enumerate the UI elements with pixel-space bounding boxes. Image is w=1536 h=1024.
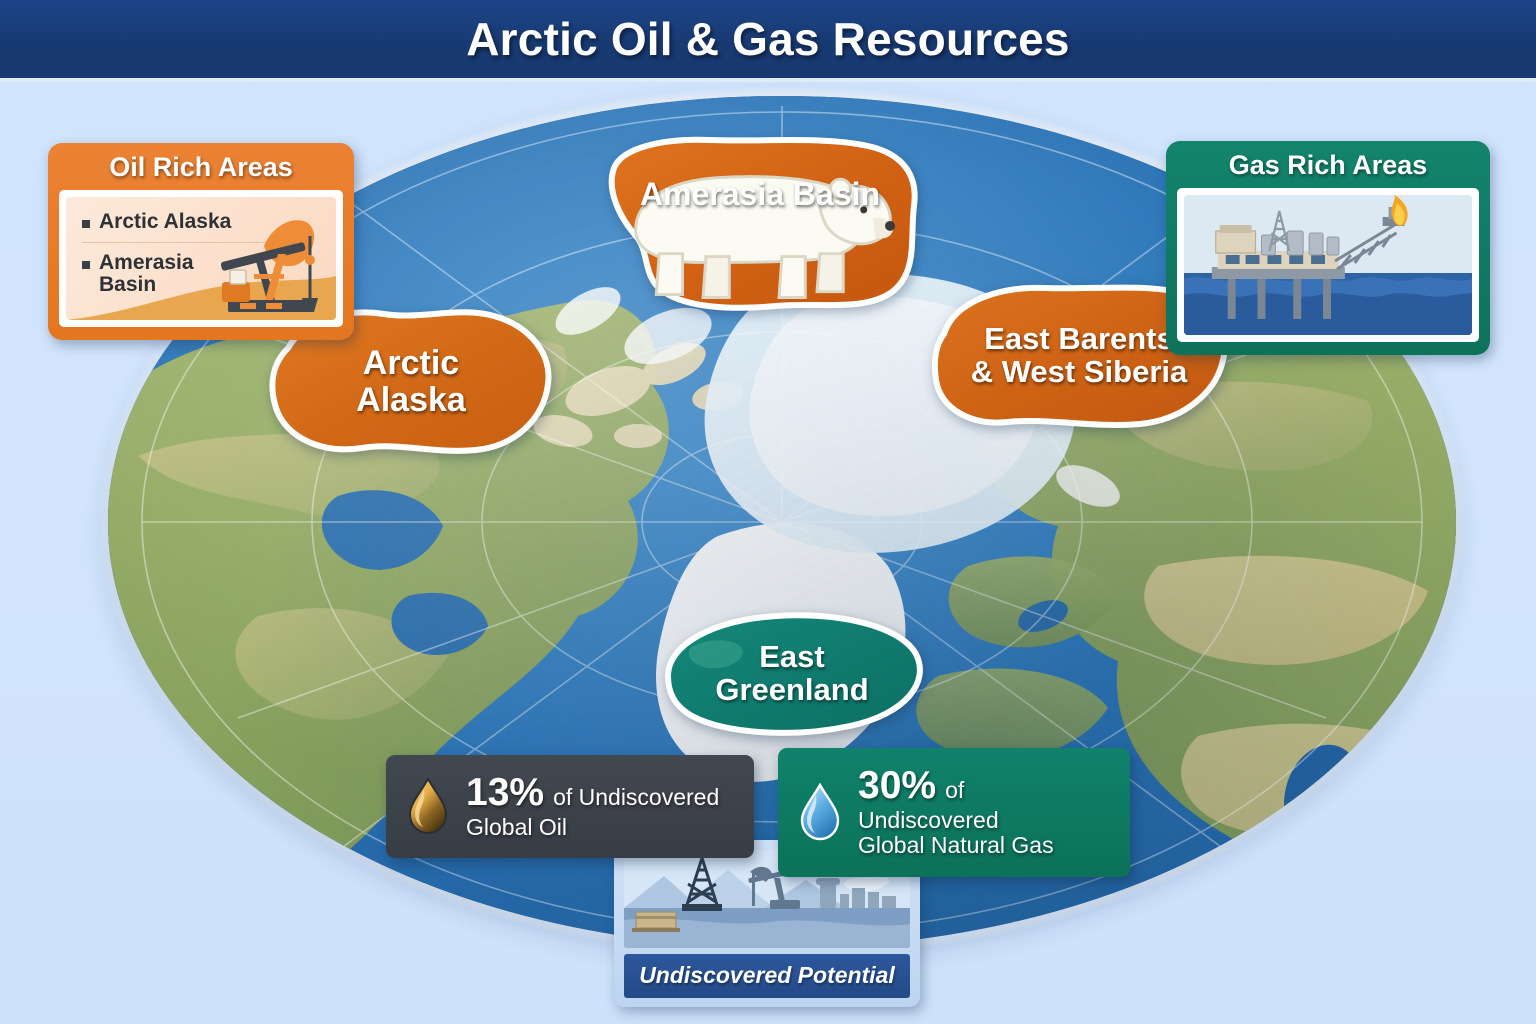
legend-card-oil[interactable]: Oil Rich Areas Arctic Alaska Amerasia Ba…	[48, 143, 354, 340]
stat-tail: of Undiscovered	[553, 784, 719, 810]
legend-card-oil-panel: Arctic Alaska Amerasia Basin	[66, 197, 336, 320]
water-droplet-icon	[798, 783, 842, 841]
stat-percent: 13%	[466, 771, 544, 814]
stat-line-1: 30%of Undiscovered	[858, 764, 1108, 833]
pumpjack-icon	[206, 208, 334, 320]
region-east-greenland-shape	[654, 604, 930, 740]
bullet-icon	[82, 261, 90, 269]
region-amerasia-basin[interactable]: Amerasia Basin	[592, 132, 928, 314]
legend-card-gas[interactable]: Gas Rich Areas	[1166, 141, 1490, 355]
stat-undiscovered-gas-body: 30%of Undiscovered Global Natural Gas	[858, 764, 1108, 859]
region-east-greenland[interactable]: East Greenland	[654, 604, 930, 740]
stat-undiscovered-gas[interactable]: 30%of Undiscovered Global Natural Gas	[778, 748, 1130, 877]
potential-card-caption: Undiscovered Potential	[624, 954, 910, 998]
stat-undiscovered-oil[interactable]: 13%of Undiscovered Global Oil	[386, 755, 754, 858]
legend-card-gas-panel	[1184, 195, 1472, 335]
stat-line-1: 13%of Undiscovered	[466, 771, 719, 815]
stat-percent: 30%	[858, 764, 936, 807]
legend-card-oil-title: Oil Rich Areas	[48, 143, 354, 190]
stat-line-2: Global Natural Gas	[858, 833, 1108, 859]
legend-item-label: Amerasia Basin	[99, 252, 194, 296]
stat-line-2: Global Oil	[466, 815, 719, 841]
stat-undiscovered-oil-body: 13%of Undiscovered Global Oil	[466, 771, 719, 840]
offshore-gas-platform-icon	[1184, 195, 1472, 335]
infographic-root: Arctic Oil & Gas Resources	[0, 0, 1536, 1024]
legend-card-oil-frame: Arctic Alaska Amerasia Basin	[59, 190, 343, 327]
bullet-icon	[82, 220, 90, 228]
polar-bear-icon	[592, 132, 928, 314]
title-banner: Arctic Oil & Gas Resources	[0, 0, 1536, 78]
legend-card-gas-frame	[1177, 188, 1479, 342]
oil-droplet-icon	[406, 777, 450, 835]
page-title: Arctic Oil & Gas Resources	[466, 12, 1069, 66]
legend-card-gas-title: Gas Rich Areas	[1166, 141, 1490, 188]
